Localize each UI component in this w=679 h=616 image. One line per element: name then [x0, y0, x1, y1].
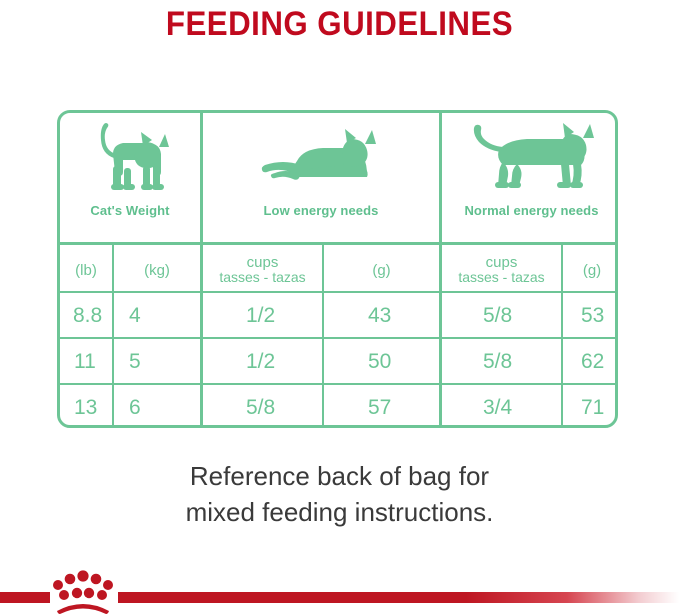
- lying-cat-icon: [251, 119, 391, 201]
- table-cell: 62: [563, 339, 621, 385]
- table-cell: 71: [563, 385, 621, 431]
- table-cell: 6: [114, 385, 200, 431]
- column-group-normal-energy: Normal energy needs: [442, 113, 621, 245]
- note-line-1: Reference back of bag for: [0, 458, 679, 494]
- brand-bar: [0, 565, 679, 616]
- subheader-line1: cups: [486, 255, 518, 270]
- column-group-label: Low energy needs: [263, 203, 378, 218]
- subheader-line2: tasses - tazas: [458, 270, 544, 285]
- subheader-line1: (g): [583, 263, 601, 278]
- column-group-low-energy: Low energy needs: [203, 113, 439, 245]
- column-group-label: Normal energy needs: [464, 203, 598, 218]
- page-title: FEEDING GUIDELINES: [27, 4, 652, 44]
- subheader-normal-grams: (g): [563, 247, 621, 293]
- table-cell: 1/2: [203, 293, 322, 339]
- note-line-2: mixed feeding instructions.: [0, 494, 679, 530]
- table-cell: 4: [114, 293, 200, 339]
- table-cell: 50: [324, 339, 439, 385]
- royal-canin-crown-logo: [47, 568, 119, 614]
- brand-bar-left-segment: [0, 592, 50, 603]
- subheader-normal-cups: cups tasses - tazas: [442, 247, 561, 293]
- brand-bar-right-segment: [118, 592, 679, 603]
- subheader-kg: (kg): [114, 247, 200, 293]
- table-cell: 5: [114, 339, 200, 385]
- feeding-guidelines-table: Cat's Weight: [57, 110, 618, 428]
- walking-cat-icon: [457, 119, 607, 201]
- table-cell: 5/8: [442, 339, 561, 385]
- subheader-line1: cups: [247, 255, 279, 270]
- table-cell: 8.8: [60, 293, 112, 339]
- table-cell: 3/4: [442, 385, 561, 431]
- subheader-low-grams: (g): [324, 247, 439, 293]
- mixed-feeding-note: Reference back of bag for mixed feeding …: [0, 458, 679, 530]
- table-cell: 1/2: [203, 339, 322, 385]
- subheader-line2: tasses - tazas: [219, 270, 305, 285]
- table-cell: 13: [60, 385, 112, 431]
- subheader-line1: (kg): [144, 263, 170, 278]
- subheader-line1: (g): [372, 263, 390, 278]
- standing-cat-icon: [87, 119, 173, 201]
- table-cell: 5/8: [442, 293, 561, 339]
- table-cell: 5/8: [203, 385, 322, 431]
- subheader-low-cups: cups tasses - tazas: [203, 247, 322, 293]
- column-group-label: Cat's Weight: [90, 203, 169, 218]
- table-cell: 11: [60, 339, 112, 385]
- table-cell: 57: [324, 385, 439, 431]
- table-cell: 53: [563, 293, 621, 339]
- table-cell: 43: [324, 293, 439, 339]
- subheader-lb: (lb): [60, 247, 112, 293]
- column-group-cats-weight: Cat's Weight: [60, 113, 200, 245]
- subheader-line1: (lb): [75, 263, 97, 278]
